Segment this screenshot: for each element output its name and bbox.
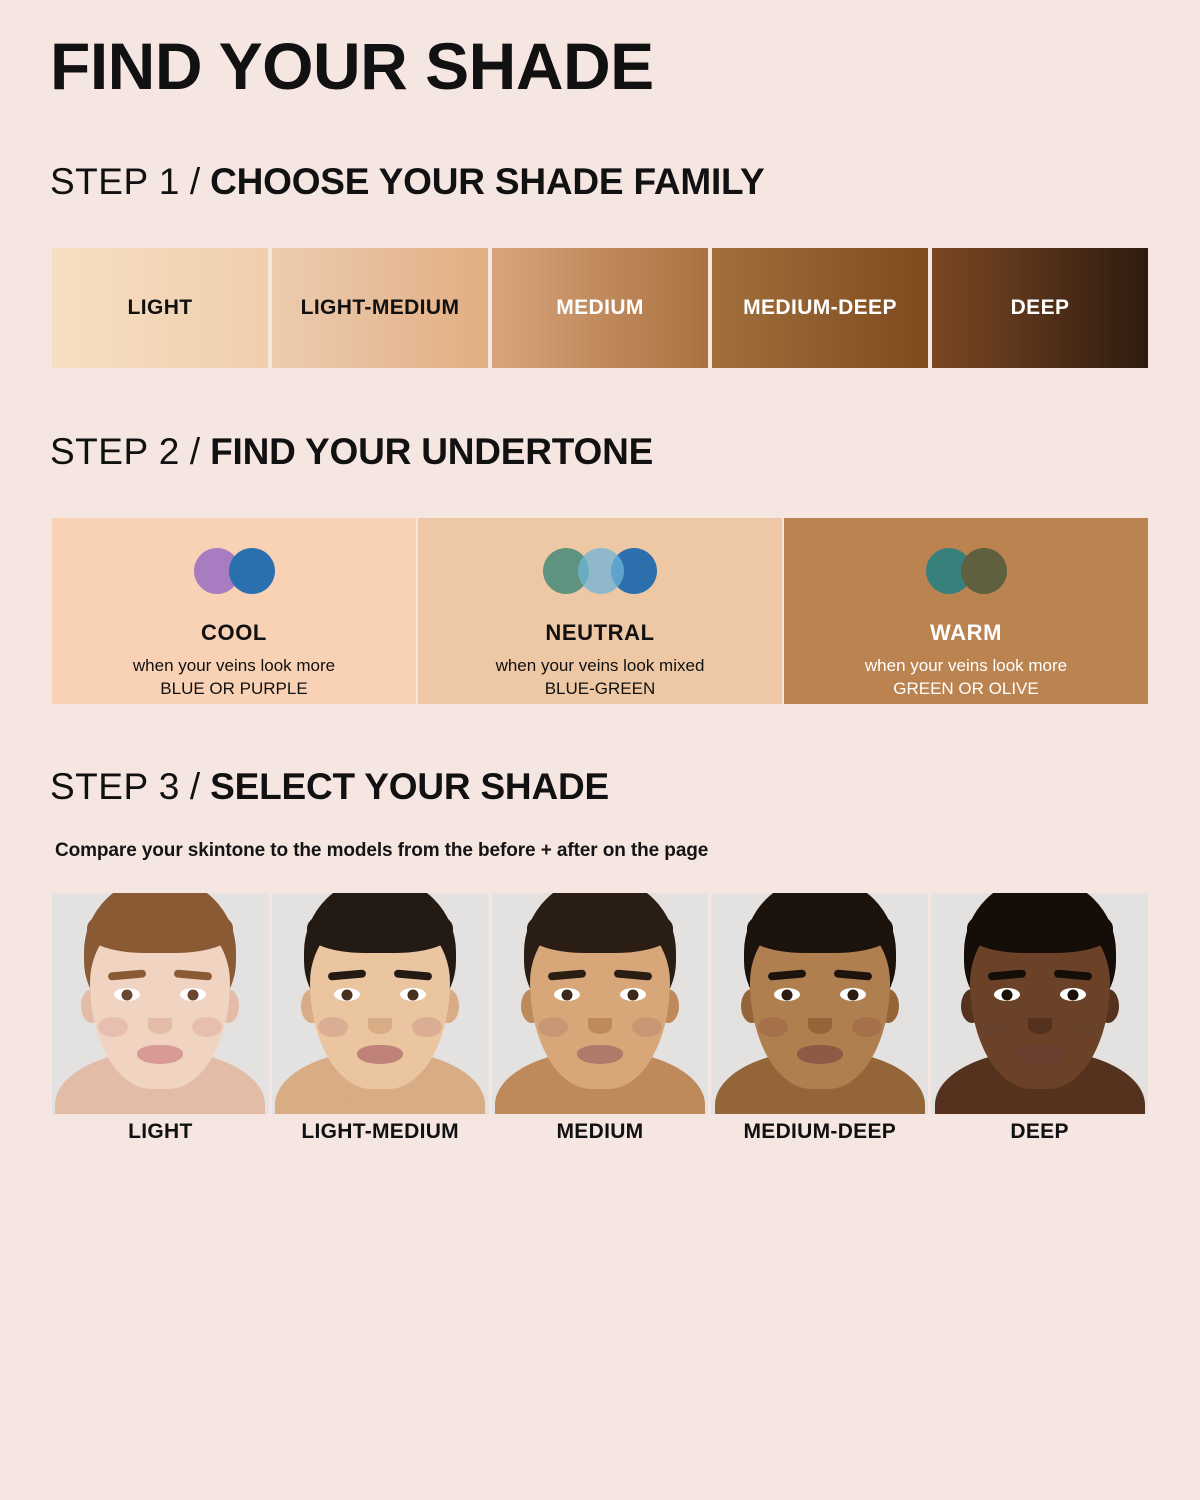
step-1-number: STEP 1 <box>50 161 180 202</box>
model-photo-row <box>52 893 1148 1114</box>
olive-vein-dot <box>961 548 1007 594</box>
undertone-description-line: when your veins look mixed <box>496 656 705 675</box>
model-nose <box>1028 1018 1052 1034</box>
model-lips <box>577 1045 623 1064</box>
shade-family-swatch-light[interactable]: LIGHT <box>52 248 268 368</box>
vein-color-dots <box>926 545 1007 597</box>
step-2-number: STEP 2 <box>50 431 180 472</box>
undertone-panel-row: COOLwhen your veins look moreBLUE OR PUR… <box>52 518 1148 704</box>
vein-color-dots <box>194 545 275 597</box>
model-eye-left <box>554 988 580 1001</box>
undertone-description: when your veins look moreBLUE OR PURPLE <box>133 655 335 701</box>
undertone-name: WARM <box>930 620 1002 646</box>
shade-family-swatch-medium-deep[interactable]: MEDIUM-DEEP <box>712 248 928 368</box>
step-3-heading: STEP 3/SELECT YOUR SHADE <box>50 768 609 805</box>
model-hairline <box>87 903 233 953</box>
undertone-vein-colors: BLUE OR PURPLE <box>133 678 335 701</box>
model-photo-light-medium[interactable] <box>272 893 489 1114</box>
model-cheek-right <box>632 1017 662 1037</box>
portrait-illustration <box>272 893 489 1114</box>
model-hairline <box>527 903 673 953</box>
model-eye-right <box>840 988 866 1001</box>
model-nose <box>588 1018 612 1034</box>
model-lips <box>1017 1045 1063 1064</box>
model-label-row: LIGHTLIGHT-MEDIUMMEDIUMMEDIUM-DEEPDEEP <box>52 1120 1148 1144</box>
model-lips <box>797 1045 843 1064</box>
shade-family-label: LIGHT-MEDIUM <box>301 296 460 320</box>
undertone-description: when your veins look moreGREEN OR OLIVE <box>865 655 1067 701</box>
model-eye-right <box>620 988 646 1001</box>
undertone-vein-colors: BLUE-GREEN <box>496 678 705 701</box>
shade-family-label: DEEP <box>1011 296 1070 320</box>
portrait-illustration <box>492 893 709 1114</box>
model-iris-left <box>561 989 572 1000</box>
shade-finder-page: FIND YOUR SHADE STEP 1/CHOOSE YOUR SHADE… <box>0 0 1200 1500</box>
step-3-number: STEP 3 <box>50 766 180 807</box>
model-nose <box>808 1018 832 1034</box>
undertone-panel-warm[interactable]: WARMwhen your veins look moreGREEN OR OL… <box>784 518 1148 704</box>
step-2-title: FIND YOUR UNDERTONE <box>210 431 653 472</box>
model-iris-left <box>1001 989 1012 1000</box>
model-iris-right <box>1067 989 1078 1000</box>
shade-family-swatch-deep[interactable]: DEEP <box>932 248 1148 368</box>
blue-green-blend-dot <box>578 548 624 594</box>
model-iris-right <box>847 989 858 1000</box>
model-cheek-left <box>318 1017 348 1037</box>
step-1-heading: STEP 1/CHOOSE YOUR SHADE FAMILY <box>50 163 765 200</box>
model-iris-right <box>408 989 419 1000</box>
model-cheek-left <box>538 1017 568 1037</box>
model-eye-left <box>334 988 360 1001</box>
model-label-light-medium: LIGHT-MEDIUM <box>272 1120 489 1144</box>
undertone-description: when your veins look mixedBLUE-GREEN <box>496 655 705 701</box>
model-nose <box>148 1018 172 1034</box>
step-1-title: CHOOSE YOUR SHADE FAMILY <box>210 161 764 202</box>
model-lips <box>137 1045 183 1064</box>
model-cheek-left <box>978 1017 1008 1037</box>
portrait-illustration <box>711 893 928 1114</box>
page-title: FIND YOUR SHADE <box>50 33 654 99</box>
undertone-name: NEUTRAL <box>545 620 654 646</box>
model-eye-right <box>1060 988 1086 1001</box>
model-cheek-left <box>758 1017 788 1037</box>
model-label-medium: MEDIUM <box>492 1120 709 1144</box>
model-eye-left <box>994 988 1020 1001</box>
model-photo-medium-deep[interactable] <box>711 893 928 1114</box>
model-cheek-right <box>852 1017 882 1037</box>
model-eye-right <box>400 988 426 1001</box>
step-2-heading: STEP 2/FIND YOUR UNDERTONE <box>50 433 653 470</box>
model-iris-right <box>627 989 638 1000</box>
shade-family-swatch-light-medium[interactable]: LIGHT-MEDIUM <box>272 248 488 368</box>
model-hairline <box>307 903 453 953</box>
shade-family-bar: LIGHTLIGHT-MEDIUMMEDIUMMEDIUM-DEEPDEEP <box>52 248 1148 368</box>
undertone-vein-colors: GREEN OR OLIVE <box>865 678 1067 701</box>
model-cheek-right <box>412 1017 442 1037</box>
model-iris-right <box>188 989 199 1000</box>
model-hairline <box>967 903 1113 953</box>
model-nose <box>368 1018 392 1034</box>
shade-family-label: MEDIUM-DEEP <box>743 296 897 320</box>
portrait-illustration <box>52 893 269 1114</box>
step-3-separator: / <box>180 766 210 807</box>
vein-color-dots <box>543 545 657 597</box>
model-hairline <box>747 903 893 953</box>
portrait-illustration <box>931 893 1148 1114</box>
shade-family-label: LIGHT <box>128 296 193 320</box>
model-iris-left <box>122 989 133 1000</box>
blue-vein-dot <box>229 548 275 594</box>
undertone-name: COOL <box>201 620 267 646</box>
model-label-deep: DEEP <box>931 1120 1148 1144</box>
model-cheek-right <box>1072 1017 1102 1037</box>
shade-family-swatch-medium[interactable]: MEDIUM <box>492 248 708 368</box>
model-photo-medium[interactable] <box>492 893 709 1114</box>
step-1-separator: / <box>180 161 210 202</box>
model-lips <box>357 1045 403 1064</box>
shade-family-label: MEDIUM <box>556 296 644 320</box>
undertone-description-line: when your veins look more <box>133 656 335 675</box>
model-photo-light[interactable] <box>52 893 269 1114</box>
model-photo-deep[interactable] <box>931 893 1148 1114</box>
undertone-panel-neutral[interactable]: NEUTRALwhen your veins look mixedBLUE-GR… <box>418 518 782 704</box>
step-3-title: SELECT YOUR SHADE <box>210 766 609 807</box>
model-label-medium-deep: MEDIUM-DEEP <box>711 1120 928 1144</box>
step-3-subtitle: Compare your skintone to the models from… <box>55 840 708 862</box>
model-iris-left <box>781 989 792 1000</box>
model-eye-left <box>774 988 800 1001</box>
step-2-separator: / <box>180 431 210 472</box>
model-iris-left <box>342 989 353 1000</box>
model-label-light: LIGHT <box>52 1120 269 1144</box>
undertone-panel-cool[interactable]: COOLwhen your veins look moreBLUE OR PUR… <box>52 518 416 704</box>
undertone-description-line: when your veins look more <box>865 656 1067 675</box>
